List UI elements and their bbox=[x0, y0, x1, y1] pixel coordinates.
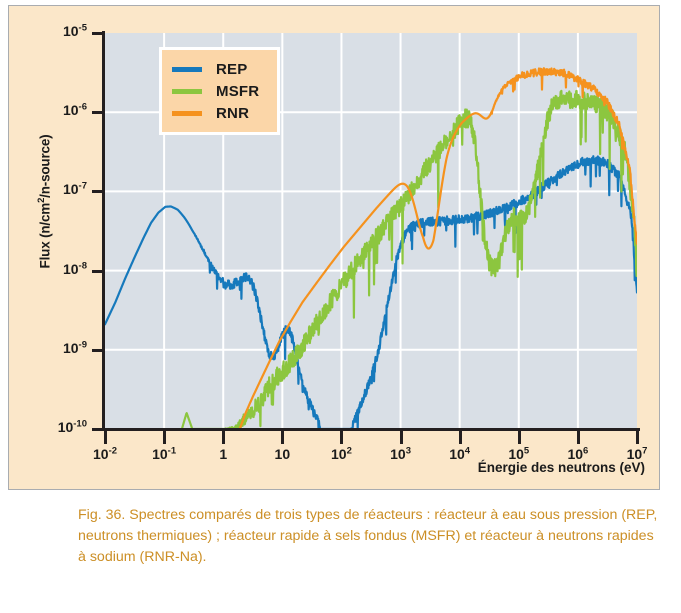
x-tick bbox=[222, 431, 225, 444]
x-tick bbox=[400, 431, 403, 444]
legend-swatch-icon bbox=[172, 67, 202, 72]
y-tick-label: 10-5 bbox=[27, 23, 87, 39]
y-tick-label: 10-7 bbox=[27, 181, 87, 197]
y-tick-label: 10-9 bbox=[27, 340, 87, 356]
y-axis-title-text: Flux (n/cm2/n-source) bbox=[38, 135, 53, 269]
x-tick bbox=[577, 431, 580, 444]
x-tick bbox=[459, 431, 462, 444]
x-tick-label: 10-2 bbox=[75, 446, 135, 462]
x-tick-label: 10 bbox=[252, 446, 312, 462]
y-tick bbox=[92, 190, 105, 193]
x-tick-label: 10-1 bbox=[134, 446, 194, 462]
x-tick-label: 102 bbox=[311, 446, 371, 462]
legend-swatch-icon bbox=[172, 89, 202, 94]
y-tick-label: 10-10 bbox=[27, 419, 87, 435]
chart-legend: REPMSFRRNR bbox=[159, 47, 280, 135]
y-tick bbox=[92, 349, 105, 352]
legend-item-msfr[interactable]: MSFR bbox=[172, 80, 259, 102]
y-tick bbox=[92, 32, 105, 35]
legend-label: REP bbox=[216, 61, 247, 78]
x-axis-line bbox=[102, 428, 640, 431]
legend-swatch-icon bbox=[172, 111, 202, 116]
figure-panel: Flux (n/cm2/n-source) 10-1010-910-810-71… bbox=[8, 5, 660, 490]
series-line-msfr bbox=[182, 91, 637, 429]
legend-item-rep[interactable]: REP bbox=[172, 58, 259, 80]
x-tick bbox=[518, 431, 521, 444]
legend-label: RNR bbox=[216, 105, 249, 122]
y-tick bbox=[92, 111, 105, 114]
y-tick-label: 10-6 bbox=[27, 102, 87, 118]
x-tick bbox=[636, 431, 639, 444]
x-tick-label: 103 bbox=[371, 446, 431, 462]
x-axis-title: Énergie des neutrons (eV) bbox=[478, 460, 645, 475]
figure-caption: Fig. 36. Spectres comparés de trois type… bbox=[78, 505, 658, 568]
series-line-rep bbox=[105, 156, 637, 429]
figure-root: Flux (n/cm2/n-source) 10-1010-910-810-71… bbox=[0, 0, 681, 613]
legend-label: MSFR bbox=[216, 83, 259, 100]
legend-item-rnr[interactable]: RNR bbox=[172, 102, 259, 124]
y-tick-label: 10-8 bbox=[27, 261, 87, 277]
x-tick bbox=[163, 431, 166, 444]
x-tick bbox=[340, 431, 343, 444]
x-tick bbox=[281, 431, 284, 444]
y-tick bbox=[92, 270, 105, 273]
y-axis-line bbox=[102, 31, 105, 431]
x-tick-label: 1 bbox=[193, 446, 253, 462]
x-tick bbox=[104, 431, 107, 444]
